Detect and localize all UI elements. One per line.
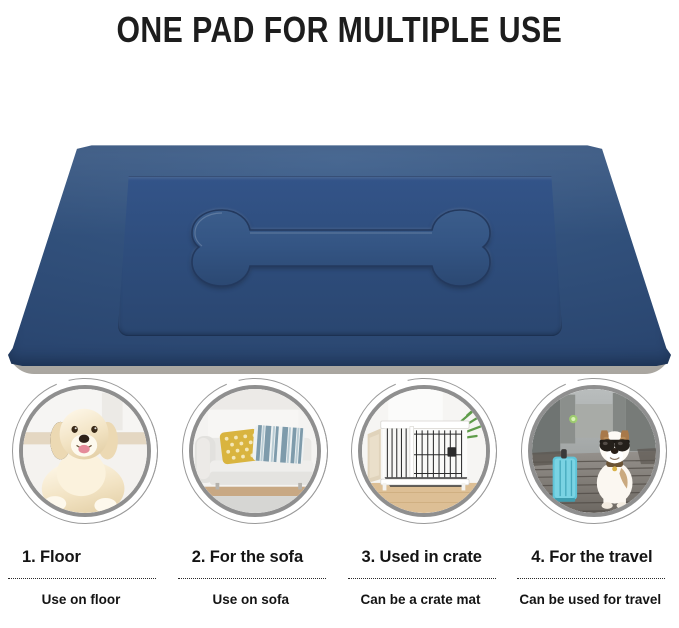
- use-case-circle-travel: [519, 376, 669, 526]
- use-case-subtitle: Use on floor: [0, 592, 156, 607]
- inner-ring: [358, 385, 490, 517]
- bone-emboss-area: [170, 204, 512, 292]
- jack-russell-with-suitcase-photo: [532, 389, 656, 513]
- golden-retriever-on-floor-photo: [23, 389, 147, 513]
- use-case-title: 1. Floor: [0, 548, 170, 567]
- dashed-divider: [348, 578, 496, 579]
- use-case-title: 4. For the travel: [509, 548, 679, 567]
- inner-ring: [189, 385, 321, 517]
- use-case-subtitle: Use on sofa: [170, 592, 326, 607]
- use-case-circle-floor: [10, 376, 160, 526]
- inner-ring: [19, 385, 151, 517]
- use-case-circle-crate: [349, 376, 499, 526]
- light-grey-sofa-with-pillows-photo: [193, 389, 317, 513]
- use-case-subtitle: Can be used for travel: [509, 592, 665, 607]
- use-case-subtitle: Can be a crate mat: [340, 592, 496, 607]
- product-hero-image: [0, 56, 679, 361]
- use-case-floor: 1. Floor Use on floor: [0, 372, 170, 628]
- dashed-divider: [8, 578, 156, 579]
- dashed-divider: [178, 578, 326, 579]
- use-case-circle-sofa: [180, 376, 330, 526]
- dog-bone-icon: [170, 204, 512, 292]
- use-case-crate: 3. Used in crate Can be a crate mat: [340, 372, 510, 628]
- use-cases-row: 1. Floor Use on floor: [0, 372, 679, 628]
- header-banner: ONE PAD FOR MULTIPLE USE: [0, 0, 679, 56]
- use-case-sofa: 2. For the sofa Use on sofa: [170, 372, 340, 628]
- page-title: ONE PAD FOR MULTIPLE USE: [117, 12, 563, 48]
- inner-ring: [528, 385, 660, 517]
- use-case-title: 3. Used in crate: [340, 548, 510, 567]
- dashed-divider: [517, 578, 665, 579]
- white-wooden-dog-crate-photo: [362, 389, 486, 513]
- use-case-title: 2. For the sofa: [170, 548, 340, 567]
- use-case-travel: 4. For the travel Can be used for travel: [509, 372, 679, 628]
